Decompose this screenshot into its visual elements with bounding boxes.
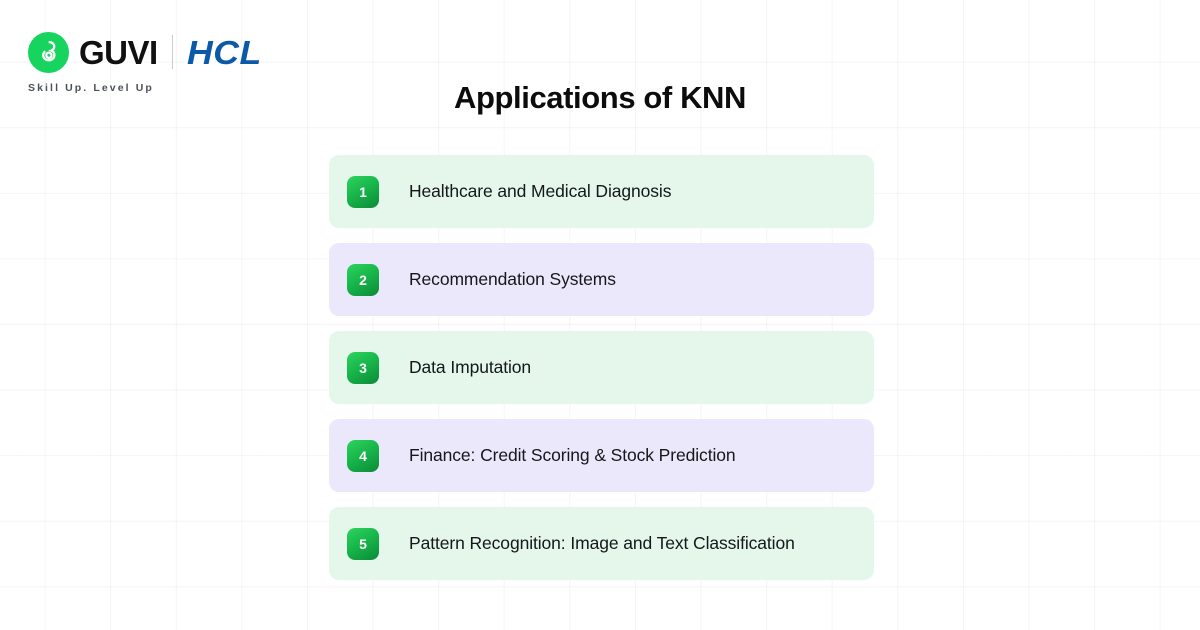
list-item[interactable]: 1 Healthcare and Medical Diagnosis bbox=[329, 155, 874, 228]
list-item[interactable]: 4 Finance: Credit Scoring & Stock Predic… bbox=[329, 419, 874, 492]
list-item-label: Finance: Credit Scoring & Stock Predicti… bbox=[409, 445, 736, 466]
list-item-label: Data Imputation bbox=[409, 357, 531, 378]
page-title: Applications of KNN bbox=[330, 80, 870, 116]
hcl-wordmark: HCL bbox=[187, 36, 262, 69]
list-item-label: Healthcare and Medical Diagnosis bbox=[409, 181, 671, 202]
list-item-number-badge: 2 bbox=[347, 264, 379, 296]
applications-list: 1 Healthcare and Medical Diagnosis 2 Rec… bbox=[329, 155, 874, 580]
list-item-number-badge: 3 bbox=[347, 352, 379, 384]
list-item[interactable]: 2 Recommendation Systems bbox=[329, 243, 874, 316]
list-item-label: Pattern Recognition: Image and Text Clas… bbox=[409, 533, 795, 554]
brand-divider bbox=[172, 35, 173, 69]
list-item-number-badge: 5 bbox=[347, 528, 379, 560]
guvi-logo-icon bbox=[28, 32, 69, 73]
guvi-wordmark: GUVI bbox=[79, 36, 158, 69]
list-item-label: Recommendation Systems bbox=[409, 269, 616, 290]
list-item-number-badge: 1 bbox=[347, 176, 379, 208]
list-item-number-badge: 4 bbox=[347, 440, 379, 472]
list-item[interactable]: 3 Data Imputation bbox=[329, 331, 874, 404]
brand-logo-row: GUVI HCL bbox=[28, 30, 448, 74]
slide-canvas: GUVI HCL Skill Up. Level Up Applications… bbox=[0, 0, 1200, 630]
list-item[interactable]: 5 Pattern Recognition: Image and Text Cl… bbox=[329, 507, 874, 580]
